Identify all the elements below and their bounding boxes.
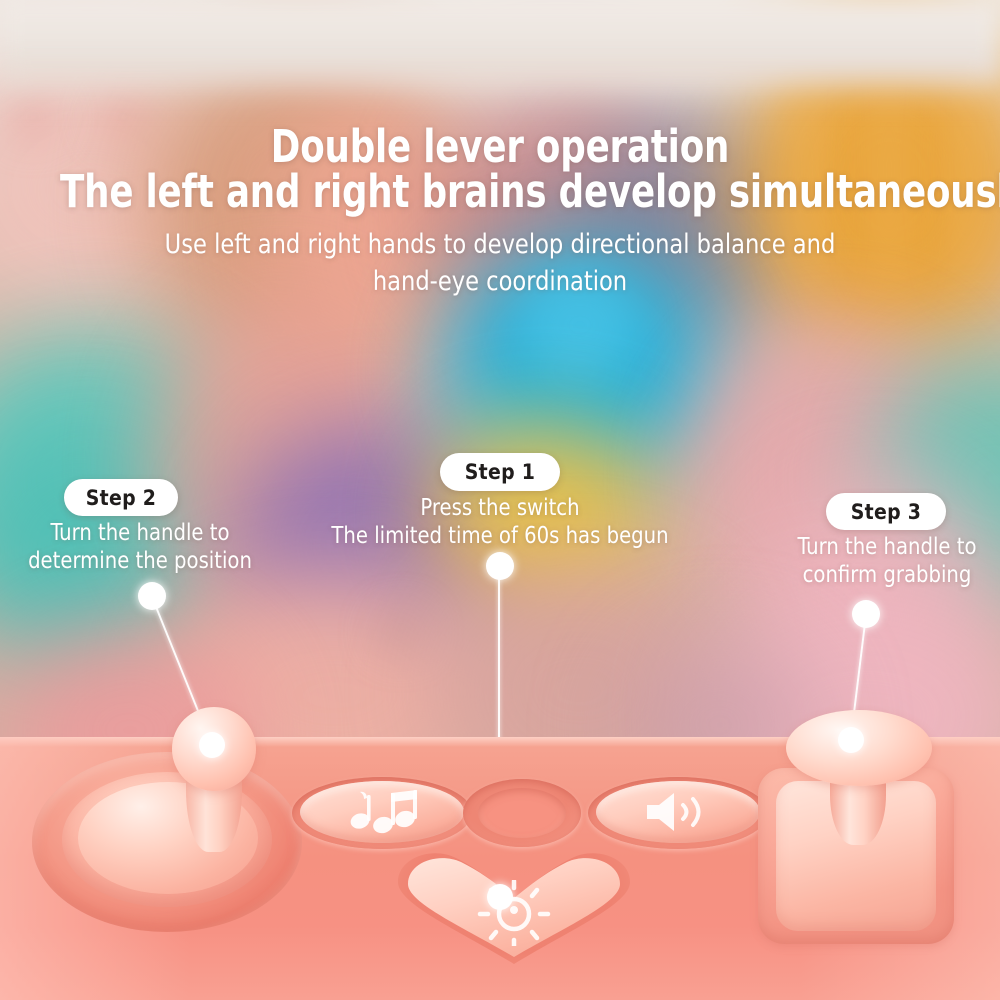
leader-dot-step-2-start xyxy=(138,582,166,610)
step-caption-3-line-1: Turn the handle to xyxy=(759,533,1000,561)
step-caption-2: Turn the handle to determine the positio… xyxy=(0,519,283,575)
leader-dot-step-2-end xyxy=(199,732,225,758)
plush-cheek-left xyxy=(10,100,56,134)
background-shelf-edge xyxy=(0,70,1000,96)
plush-bear-eye-left xyxy=(380,615,422,649)
speaker-icon xyxy=(641,790,715,834)
step-badge-3[interactable]: Step 3 xyxy=(826,493,946,530)
headline-line-1: Double lever operation xyxy=(60,123,940,171)
subtitle-line-1: Use left and right hands to develop dire… xyxy=(35,226,965,263)
step-caption-1: Press the switch The limited time of 60s… xyxy=(329,494,671,550)
leader-dot-step-3-end xyxy=(838,727,864,753)
background-shelf xyxy=(0,0,1000,78)
step-caption-3-line-2: confirm grabbing xyxy=(759,561,1000,589)
step-caption-1-line-2: The limited time of 60s has begun xyxy=(329,522,671,550)
center-slot-hole[interactable] xyxy=(478,788,566,838)
leader-dot-step-1-start xyxy=(486,552,514,580)
sun-icon xyxy=(476,880,552,946)
step-badge-2[interactable]: Step 2 xyxy=(64,479,178,516)
headline-line-2: The left and right brains develop simult… xyxy=(60,168,940,216)
step-caption-2-line-2: determine the position xyxy=(0,547,283,575)
music-note-icon xyxy=(347,789,417,835)
leader-dot-step-1-end xyxy=(487,884,513,910)
step-caption-2-line-1: Turn the handle to xyxy=(0,519,283,547)
step-caption-3: Turn the handle to confirm grabbing xyxy=(759,533,1000,589)
promo-image: Double lever operation The left and righ… xyxy=(0,0,1000,1000)
speaker-button[interactable] xyxy=(596,781,760,843)
step-badge-1[interactable]: Step 1 xyxy=(440,453,560,491)
music-button[interactable] xyxy=(300,781,464,843)
step-caption-1-line-1: Press the switch xyxy=(329,494,671,522)
subtitle-line-2: hand-eye coordination xyxy=(35,263,965,300)
leader-dot-step-3-start xyxy=(852,600,880,628)
subtitle: Use left and right hands to develop dire… xyxy=(35,226,965,300)
